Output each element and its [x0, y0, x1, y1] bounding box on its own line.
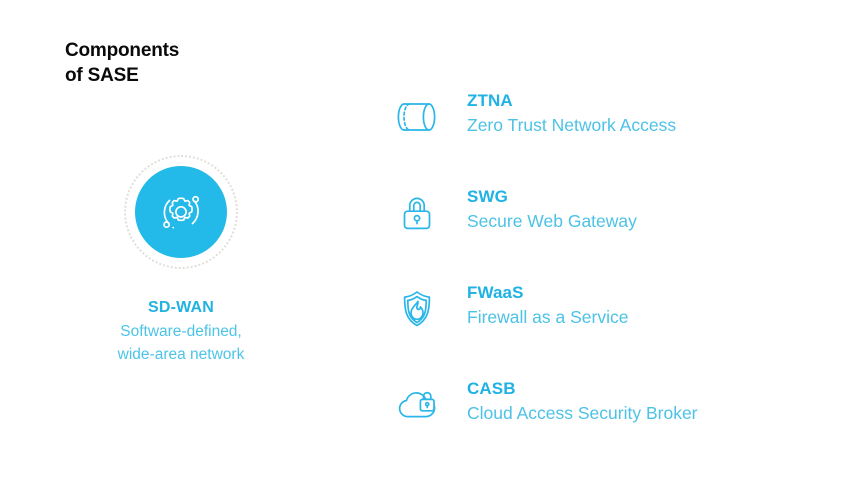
components-list: ZTNA Zero Trust Network Access SWG	[393, 90, 843, 474]
shield-flame-icon	[393, 286, 441, 332]
sdwan-badge-ring	[124, 155, 238, 269]
component-text: FWaaS Firewall as a Service	[445, 282, 628, 329]
component-row-swg[interactable]: SWG Secure Web Gateway	[393, 186, 843, 282]
component-row-casb[interactable]: CASB Cloud Access Security Broker	[393, 378, 843, 474]
component-name: Zero Trust Network Access	[467, 113, 676, 137]
component-icon-wrapper	[393, 378, 445, 430]
component-row-ztna[interactable]: ZTNA Zero Trust Network Access	[393, 90, 843, 186]
component-icon-wrapper	[393, 186, 445, 238]
component-abbr: CASB	[467, 378, 698, 399]
component-abbr: FWaaS	[467, 282, 628, 303]
page-title: Components of SASE	[65, 38, 179, 88]
component-name: Firewall as a Service	[467, 305, 628, 329]
gear-network-icon	[154, 185, 208, 239]
component-name: Secure Web Gateway	[467, 209, 637, 233]
sdwan-title: SD-WAN	[46, 299, 316, 317]
sdwan-description: Software-defined, wide-area network	[46, 320, 316, 366]
sdwan-badge-disc	[135, 166, 227, 258]
sdwan-block: SD-WAN Software-defined, wide-area netwo…	[46, 155, 316, 366]
component-text: SWG Secure Web Gateway	[445, 186, 637, 233]
cloud-lock-icon	[393, 382, 441, 428]
component-name: Cloud Access Security Broker	[467, 401, 698, 425]
component-icon-wrapper	[393, 282, 445, 334]
component-text: CASB Cloud Access Security Broker	[445, 378, 698, 425]
component-icon-wrapper	[393, 90, 445, 142]
tunnel-cylinder-icon	[393, 94, 441, 140]
component-row-fwaas[interactable]: FWaaS Firewall as a Service	[393, 282, 843, 378]
component-abbr: SWG	[467, 186, 637, 207]
component-abbr: ZTNA	[467, 90, 676, 111]
component-text: ZTNA Zero Trust Network Access	[445, 90, 676, 137]
padlock-icon	[393, 190, 441, 236]
